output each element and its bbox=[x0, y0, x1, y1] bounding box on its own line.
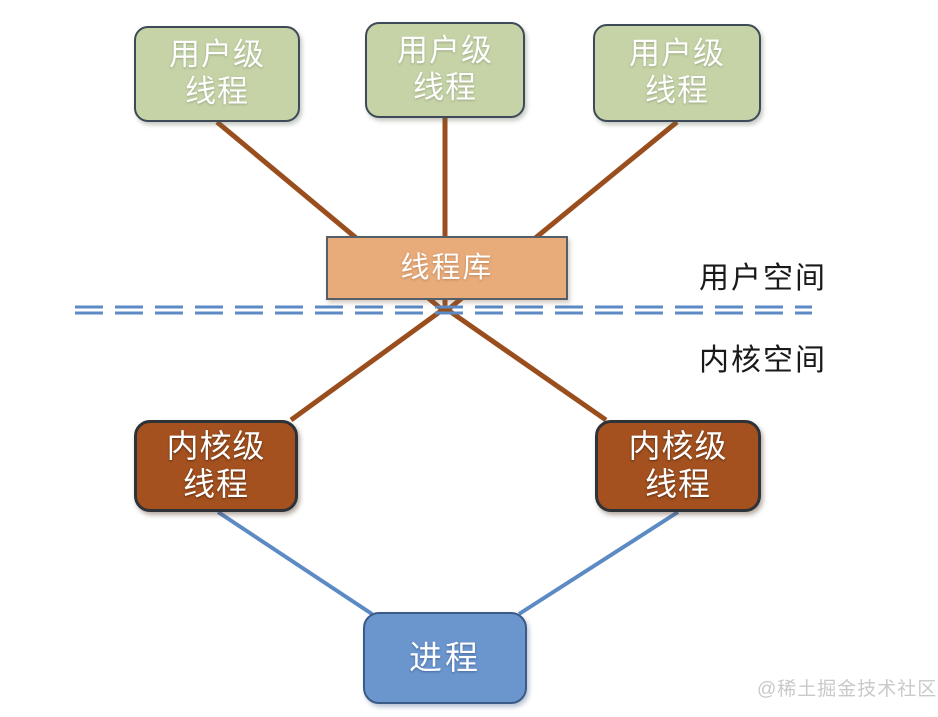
watermark: @稀土掘金技术社区 bbox=[757, 674, 937, 701]
process-box[interactable]: 进程 bbox=[363, 612, 527, 704]
thread-library-box[interactable]: 线程库 bbox=[326, 236, 568, 300]
connector-library-to-kernel-thread-right bbox=[445, 308, 606, 420]
connector-kernel-thread-right-to-process bbox=[519, 512, 678, 614]
user-level-thread-box-2[interactable]: 用户级 线程 bbox=[365, 22, 525, 118]
diagram-canvas: 用户级 线程 用户级 线程 用户级 线程 线程库 内核级 线程 内核级 线程 进… bbox=[0, 0, 938, 717]
kernel-space-label: 内核空间 bbox=[699, 335, 827, 379]
user-space-label: 用户空间 bbox=[699, 253, 827, 297]
user-level-thread-box-3[interactable]: 用户级 线程 bbox=[593, 24, 761, 122]
connector-library-to-kernel-thread-left bbox=[291, 308, 445, 420]
kernel-level-thread-box-right[interactable]: 内核级 线程 bbox=[595, 420, 761, 512]
user-level-thread-box-1[interactable]: 用户级 线程 bbox=[134, 26, 300, 122]
connector-kernel-thread-left-to-process bbox=[218, 512, 372, 614]
kernel-level-thread-box-left[interactable]: 内核级 线程 bbox=[134, 420, 298, 512]
